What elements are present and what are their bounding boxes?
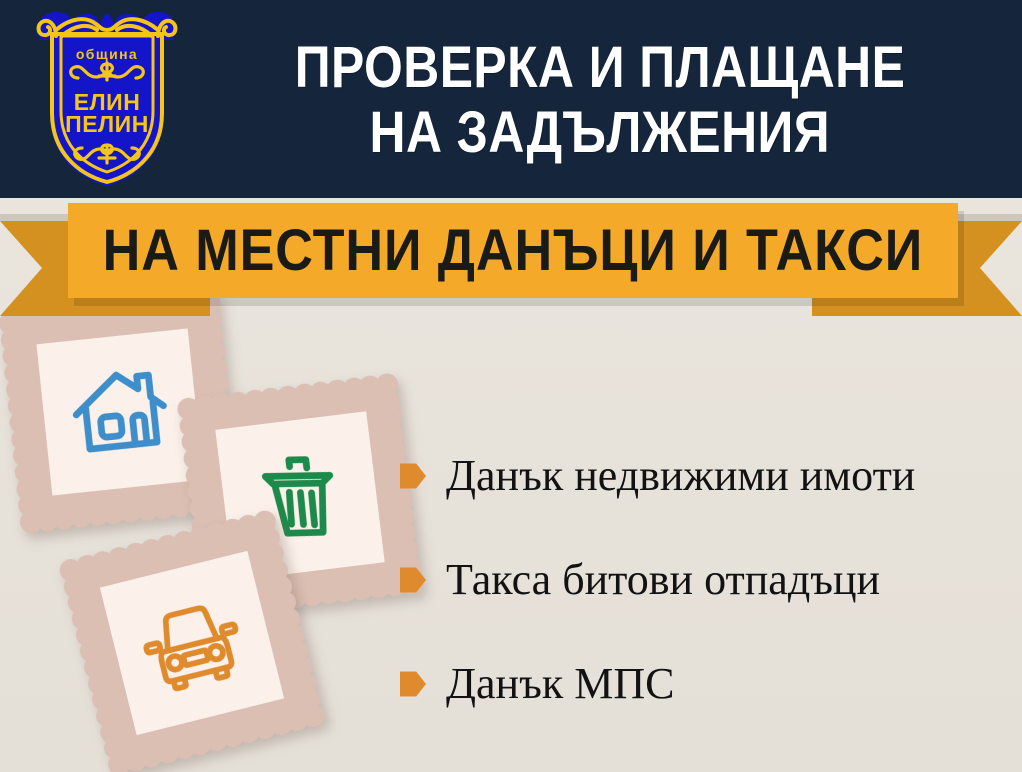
ribbon-plate: НА МЕСТНИ ДАНЪЦИ И ТАКСИ <box>68 203 958 298</box>
crest-label-main-2: ПЕЛИН <box>65 111 149 137</box>
ribbon-tail-shadow-left <box>0 214 70 221</box>
list-item-label: Данък недвижими имоти <box>446 454 915 498</box>
list-item[interactable]: Данък МПС <box>400 632 1010 736</box>
page-title: ПРОВЕРКА И ПЛАЩАНЕ НА ЗАДЪЛЖЕНИЯ <box>190 16 1010 186</box>
car-icon <box>127 578 258 709</box>
arrow-bullet-icon <box>400 567 426 593</box>
arrow-bullet-icon <box>400 463 426 489</box>
municipality-crest-logo: община ЕЛИН ПЕЛИН <box>26 6 188 192</box>
list-item[interactable]: Такса битови отпадъци <box>400 528 1010 632</box>
arrow-bullet-icon <box>400 671 426 697</box>
crest-label-top: община <box>76 46 138 62</box>
house-icon <box>61 353 180 472</box>
ribbon-banner: НА МЕСТНИ ДАНЪЦИ И ТАКСИ <box>0 198 1022 318</box>
page-title-line-1: ПРОВЕРКА И ПЛАЩАНЕ <box>295 36 906 101</box>
tax-type-list: Данък недвижими имоти Такса битови отпад… <box>400 424 1010 736</box>
poster-canvas: община ЕЛИН ПЕЛИН ПРОВЕРКА И ПЛАЩ <box>0 0 1022 772</box>
stamp-collection <box>0 300 420 770</box>
list-item-label: Данък МПС <box>446 662 674 706</box>
list-item-label: Такса битови отпадъци <box>446 558 880 602</box>
list-item[interactable]: Данък недвижими имоти <box>400 424 1010 528</box>
page-title-line-2: НА ЗАДЪЛЖЕНИЯ <box>370 101 831 166</box>
ribbon-text: НА МЕСТНИ ДАНЪЦИ И ТАКСИ <box>103 217 924 284</box>
stamp-card-vehicle-tax <box>71 522 313 764</box>
